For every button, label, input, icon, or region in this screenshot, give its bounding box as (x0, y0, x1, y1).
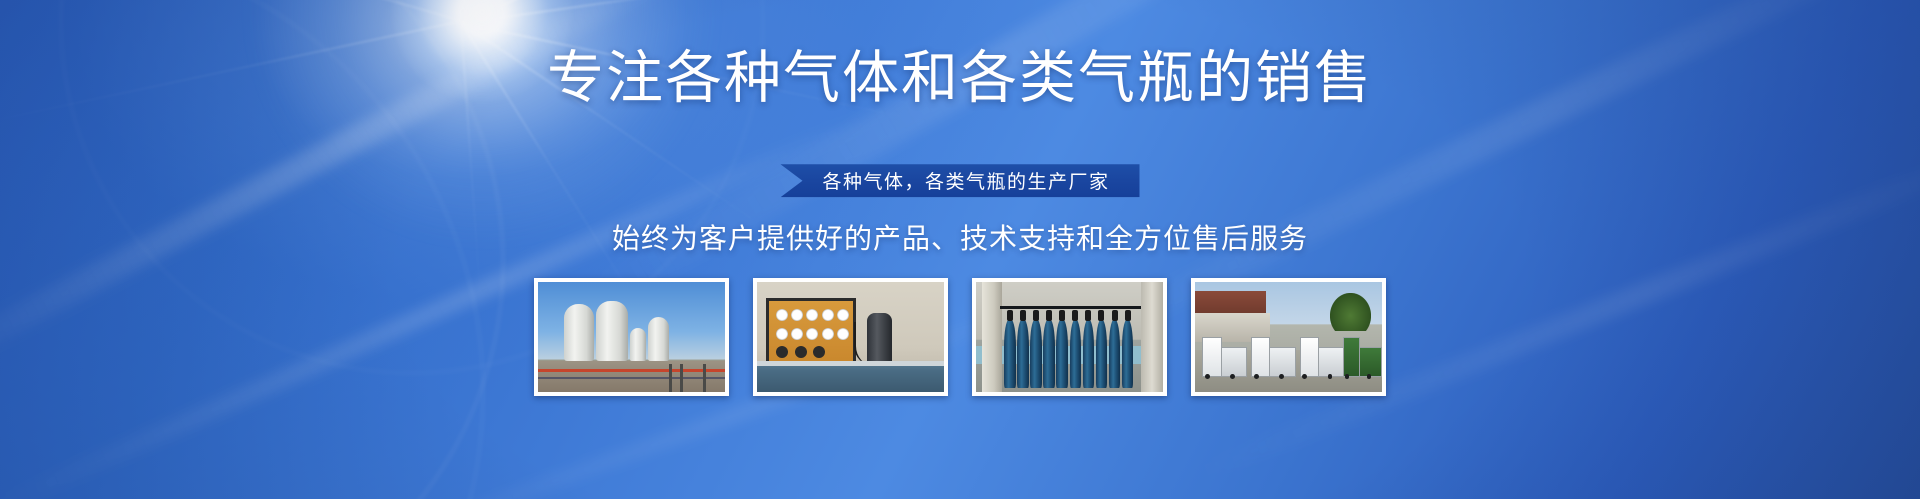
banner-content: 专注各种气体和各类气瓶的销售 各种气体，各类气瓶的生产厂家 始终为客户提供好的产… (0, 0, 1920, 499)
hero-banner: 专注各种气体和各类气瓶的销售 各种气体，各类气瓶的生产厂家 始终为客户提供好的产… (0, 0, 1920, 499)
product-photo-cryogenic-tanks[interactable] (534, 278, 729, 396)
ribbon-label: 各种气体，各类气瓶的生产厂家 (822, 167, 1109, 194)
product-photo-gas-cylinders[interactable] (972, 278, 1167, 396)
product-photo-strip (534, 278, 1386, 396)
product-photo-delivery-trucks[interactable] (1191, 278, 1386, 396)
ribbon-container: 各种气体，各类气瓶的生产厂家 (780, 164, 1139, 197)
banner-tagline: 始终为客户提供好的产品、技术支持和全方位售后服务 (612, 217, 1308, 257)
banner-headline: 专注各种气体和各类气瓶的销售 (547, 50, 1373, 107)
product-photo-filling-panel[interactable] (753, 278, 948, 396)
subtitle-ribbon: 各种气体，各类气瓶的生产厂家 (780, 164, 1139, 197)
